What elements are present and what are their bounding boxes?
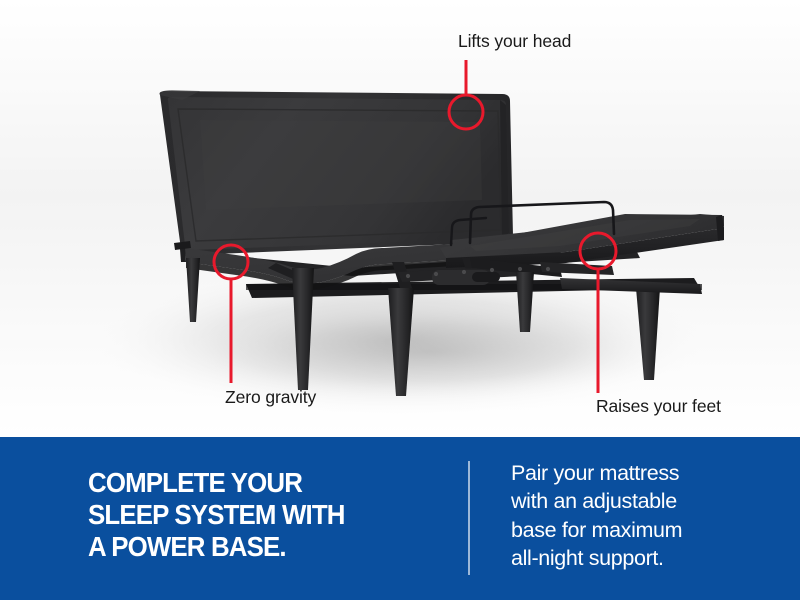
banner-subcopy: Pair your mattress with an adjustable ba…: [511, 459, 761, 573]
headline-line-1: COMPLETE YOUR: [88, 467, 436, 499]
subcopy-line-1: Pair your mattress: [511, 459, 761, 487]
callout-label-zero-gravity: Zero gravity: [225, 389, 316, 407]
head-section: [160, 90, 514, 255]
banner-headline: COMPLETE YOUR SLEEP SYSTEM WITH A POWER …: [88, 467, 436, 564]
subcopy-line-4: all-night support.: [511, 544, 761, 572]
product-photo-area: Lifts your head Zero gravity Raises your…: [0, 0, 800, 437]
subcopy-line-3: base for maximum: [511, 516, 761, 544]
promo-card: Lifts your head Zero gravity Raises your…: [0, 0, 800, 600]
callout-label-lifts-head: Lifts your head: [458, 33, 571, 51]
promo-banner: COMPLETE YOUR SLEEP SYSTEM WITH A POWER …: [0, 437, 800, 600]
headline-line-3: A POWER BASE.: [88, 531, 436, 563]
headline-line-2: SLEEP SYSTEM WITH: [88, 499, 436, 531]
banner-vertical-divider: [468, 461, 470, 575]
callout-label-raises-feet: Raises your feet: [596, 398, 721, 416]
adjustable-bed-base-illustration: [0, 0, 800, 437]
subcopy-line-2: with an adjustable: [511, 487, 761, 515]
